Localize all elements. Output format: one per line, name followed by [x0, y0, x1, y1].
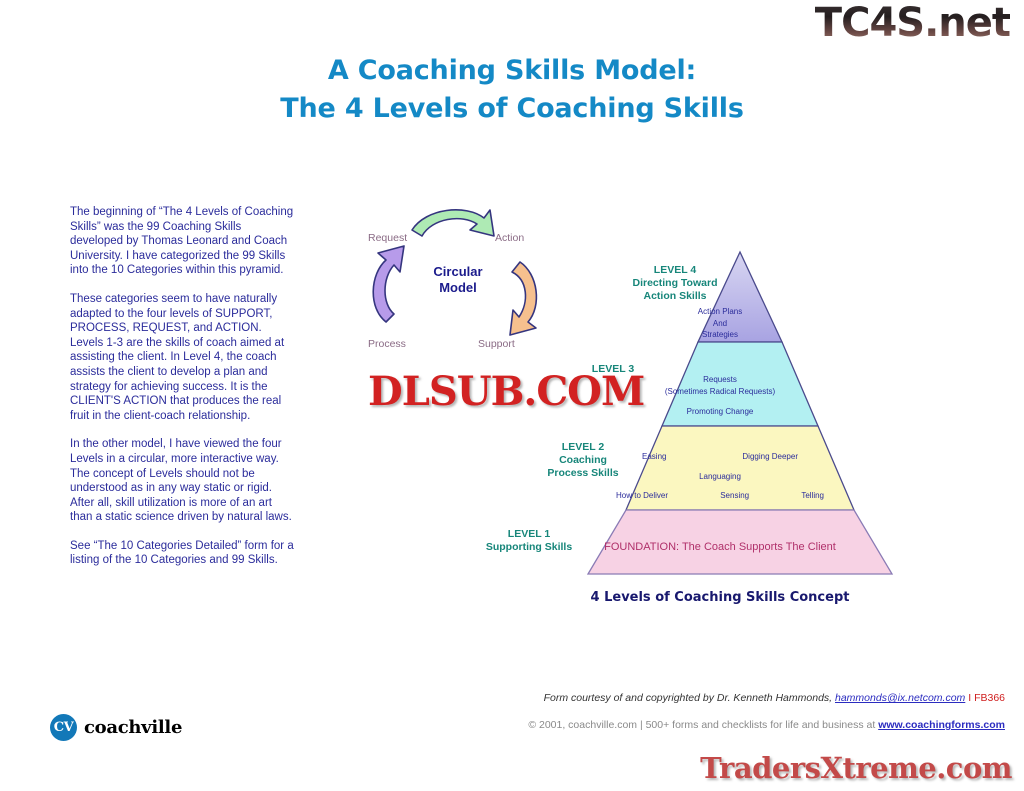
pyramid-level-2-row-3: How to Deliver Sensing Telling: [610, 490, 830, 502]
arrow-top-request-to-action: [412, 210, 494, 236]
pyramid-level-3-items: Requests (Sometimes Radical Requests) Pr…: [645, 374, 795, 418]
page-title-line-2: The 4 Levels of Coaching Skills: [0, 90, 1024, 128]
pyramid-caption-level-1-line-1: LEVEL 1: [464, 528, 594, 541]
tradersxtreme-watermark: TradersXtreme.com: [700, 751, 1012, 785]
pyramid-diagram: Action Plans And Strategies Requests (So…: [470, 246, 970, 621]
circular-label-process: Process: [368, 338, 406, 350]
pyramid-level-4-item-3: Strategies: [670, 329, 770, 341]
footer-copyright-text: © 2001, coachville.com | 500+ forms and …: [528, 719, 875, 731]
tc4s-watermark: TC4S.net: [815, 2, 1010, 44]
footer-credit-code: FB366: [974, 692, 1005, 704]
footer-credit: Form courtesy of and copyrighted by Dr. …: [0, 692, 1005, 704]
page-title-line-1: A Coaching Skills Model:: [0, 52, 1024, 90]
coachville-logo: CV coachville: [50, 714, 182, 741]
coachville-wordmark: coachville: [84, 717, 182, 738]
page-title: A Coaching Skills Model: The 4 Levels of…: [0, 52, 1024, 128]
pyramid-caption-level-1-line-2: Supporting Skills: [464, 541, 594, 554]
narrative-paragraph-2: These categories seem to have naturally …: [70, 292, 295, 423]
pyramid-level-4-item-2: And: [670, 318, 770, 330]
pyramid-caption-level-4-line-3: Action Skills: [610, 290, 740, 303]
pyramid-level-2-item-how-to-deliver: How to Deliver: [616, 490, 668, 502]
pyramid-level-2-item-digging-deeper: Digging Deeper: [742, 451, 798, 463]
narrative-paragraph-4: See “The 10 Categories Detailed” form fo…: [70, 539, 295, 568]
pyramid-caption-level-2-line-1: LEVEL 2: [518, 441, 648, 454]
circular-label-request: Request: [368, 232, 407, 244]
footer-credit-email[interactable]: hammonds@ix.netcom.com: [835, 692, 965, 704]
pyramid-level-4-item-1: Action Plans: [670, 306, 770, 318]
dlsub-watermark: DLSUB.COM: [368, 368, 644, 415]
pyramid-foundation-text: FOUNDATION: The Coach Supports The Clien…: [590, 541, 850, 553]
pyramid-caption-level-2-line-2: Coaching: [518, 454, 648, 467]
pyramid-caption-level-4-line-2: Directing Toward: [610, 277, 740, 290]
coachville-badge-icon: CV: [50, 714, 77, 741]
footer-copyright-link[interactable]: www.coachingforms.com: [878, 719, 1005, 731]
narrative-paragraph-1: The beginning of “The 4 Levels of Coachi…: [70, 205, 295, 278]
pyramid-concept-caption: 4 Levels of Coaching Skills Concept: [470, 590, 970, 605]
footer-credit-prefix: Form courtesy of and copyrighted by Dr. …: [544, 692, 833, 704]
pyramid-level-2-item-telling: Telling: [801, 490, 824, 502]
footer-credit-separator: I: [968, 692, 971, 704]
narrative-column: The beginning of “The 4 Levels of Coachi…: [70, 205, 295, 582]
pyramid-caption-level-2: LEVEL 2 Coaching Process Skills: [518, 441, 648, 480]
pyramid-level-3-item-3: Promoting Change: [645, 406, 795, 418]
narrative-paragraph-3: In the other model, I have viewed the fo…: [70, 437, 295, 525]
pyramid-caption-level-1: LEVEL 1 Supporting Skills: [464, 528, 594, 554]
pyramid-caption-level-2-line-3: Process Skills: [518, 467, 648, 480]
pyramid-caption-level-4-line-1: LEVEL 4: [610, 264, 740, 277]
pyramid-level-2-item-sensing: Sensing: [720, 490, 749, 502]
pyramid-level-4-items: Action Plans And Strategies: [670, 306, 770, 341]
pyramid-level-3-item-2: (Sometimes Radical Requests): [645, 386, 795, 398]
pyramid-caption-level-4: LEVEL 4 Directing Toward Action Skills: [610, 264, 740, 303]
document-page: TC4S.net A Coaching Skills Model: The 4 …: [0, 0, 1024, 791]
circular-label-action: Action: [495, 232, 524, 244]
